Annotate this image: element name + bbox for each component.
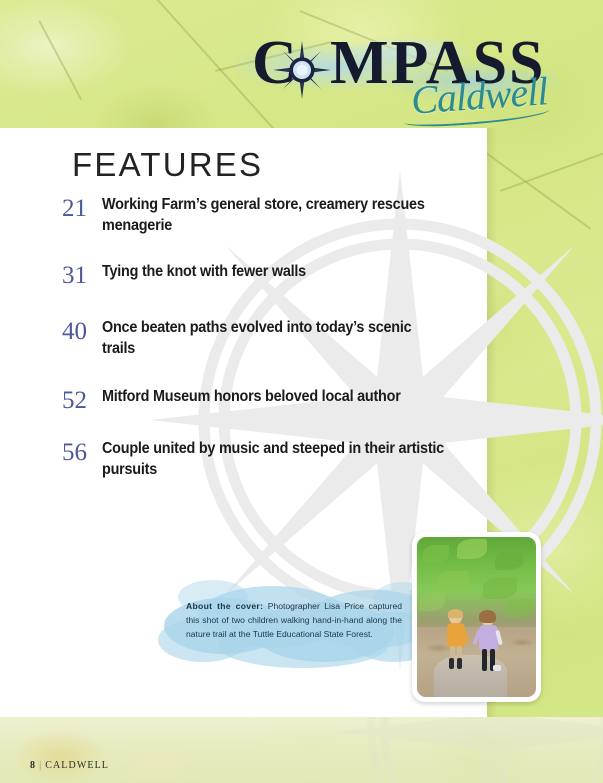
- about-the-cover-label: About the cover:: [186, 601, 263, 611]
- toc-entry-title: Working Farm’s general store, creamery r…: [102, 195, 446, 236]
- toc-entry-title: Couple united by music and steeped in th…: [102, 439, 446, 480]
- footer-page-number: 8: [30, 760, 36, 771]
- footer-publication: CALDWELL: [45, 760, 109, 771]
- trail-path: [434, 655, 508, 697]
- magazine-toc-page: C MPASS Caldwell: [0, 0, 603, 783]
- footer-separator: |: [39, 760, 42, 771]
- toc-page-number: 31: [62, 262, 102, 288]
- list-item[interactable]: 52 Mitford Museum honors beloved local a…: [62, 387, 472, 413]
- toc-page-number: 52: [62, 387, 102, 413]
- about-the-cover-caption: About the cover: Photographer Lisa Price…: [186, 600, 402, 642]
- cover-photo-image: [417, 537, 536, 697]
- cover-photo[interactable]: [412, 532, 541, 702]
- toc-entry-title: Tying the knot with fewer walls: [102, 262, 306, 283]
- footer-folio: 8|CALDWELL: [30, 760, 109, 771]
- compass-rose-icon: [272, 40, 332, 100]
- compass-watermark-bottom-icon: [330, 717, 603, 783]
- toc-entry-title: Mitford Museum honors beloved local auth…: [102, 387, 401, 408]
- toc-page-number: 56: [62, 439, 102, 465]
- bottom-photo-band: [0, 717, 603, 783]
- list-item[interactable]: 31 Tying the knot with fewer walls: [62, 262, 472, 288]
- toc-page-number: 21: [62, 195, 102, 221]
- list-item[interactable]: 56 Couple united by music and steeped in…: [62, 439, 472, 480]
- toc-entry-title: Once beaten paths evolved into today’s s…: [102, 318, 446, 359]
- masthead: C MPASS Caldwell: [0, 0, 603, 128]
- toc-page-number: 40: [62, 318, 102, 344]
- list-item[interactable]: 21 Working Farm’s general store, creamer…: [62, 195, 472, 236]
- list-item[interactable]: 40 Once beaten paths evolved into today’…: [62, 318, 472, 359]
- table-of-contents: 21 Working Farm’s general store, creamer…: [62, 195, 472, 501]
- page-title: FEATURES: [72, 148, 263, 181]
- branch-decor: [500, 152, 603, 191]
